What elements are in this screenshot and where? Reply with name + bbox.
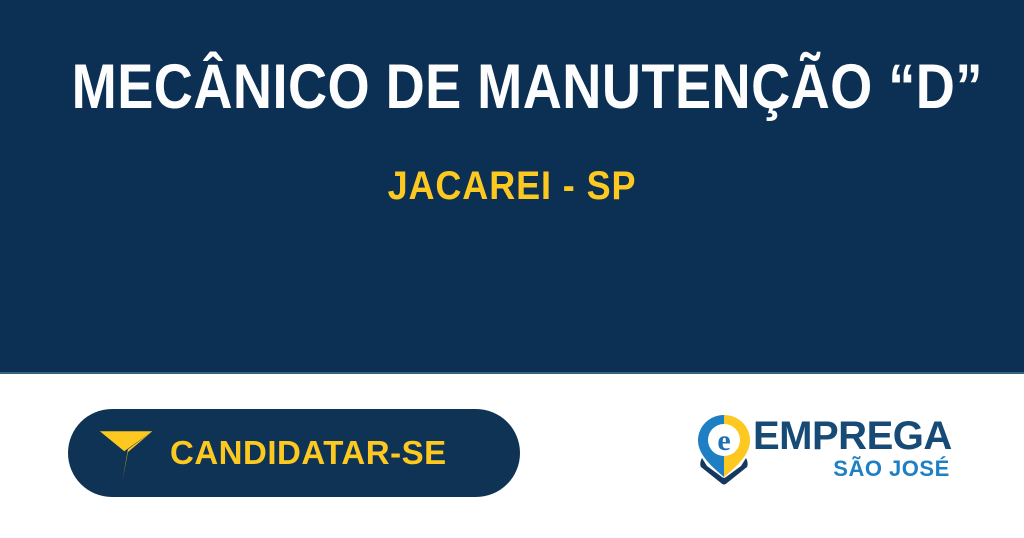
map-pin-letter-e-icon: e [697,414,751,486]
hero-section: MECÂNICO DE MANUTENÇÃO “D” JACAREI - SP [0,0,1024,374]
svg-text:e: e [717,424,730,457]
brand-subtitle: SÃO JOSÉ [753,458,952,480]
apply-button-label: CANDIDATAR-SE [170,434,447,472]
brand-logo: e EMPREGA SÃO JOSÉ [697,412,937,496]
job-vacancy-banner: MECÂNICO DE MANUTENÇÃO “D” JACAREI - SP … [0,0,1024,538]
apply-button[interactable]: CANDIDATAR-SE [68,409,520,497]
brand-name: EMPREGA [753,416,952,456]
footer-section: CANDIDATAR-SE e EMPREGA SÃO JOSÉ [0,376,1024,538]
job-location-subtitle: JACAREI - SP [51,162,973,210]
paper-plane-send-icon [98,424,156,482]
page-title: MECÂNICO DE MANUTENÇÃO “D” [72,52,953,122]
brand-wordmark: EMPREGA SÃO JOSÉ [753,412,952,480]
